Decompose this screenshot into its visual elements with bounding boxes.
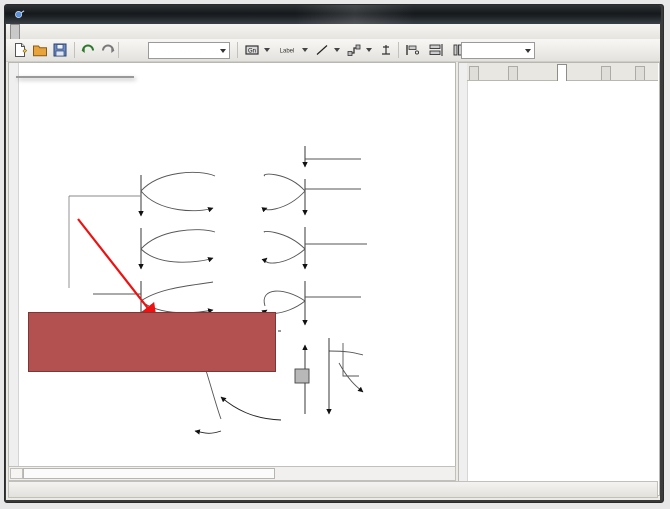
- redo-arrow-icon[interactable]: [100, 42, 116, 58]
- open-folder-icon[interactable]: [32, 42, 48, 58]
- title-bar: [5, 5, 661, 24]
- pathway-drawing[interactable]: [9, 63, 453, 479]
- pathway-connections: [9, 63, 453, 479]
- menu-item-edit[interactable]: [38, 25, 46, 38]
- chevron-down-icon: [525, 49, 531, 53]
- tab-objects[interactable]: [469, 66, 479, 80]
- toolbar-separator: [118, 42, 119, 58]
- menu-item-data[interactable]: [64, 25, 72, 38]
- menu-item-help[interactable]: [159, 25, 167, 38]
- app-window: Gn Label: [0, 0, 670, 509]
- sidebar-tabs: [467, 63, 658, 81]
- save-disk-icon[interactable]: [52, 42, 68, 58]
- file-menu-dropdown[interactable]: [16, 76, 134, 78]
- svg-text:Label: Label: [280, 49, 295, 55]
- hscroll-thumb[interactable]: [23, 468, 275, 479]
- anchor-icon[interactable]: [378, 42, 394, 58]
- undo-arrow-icon[interactable]: [80, 42, 96, 58]
- new-file-icon[interactable]: [12, 42, 28, 58]
- line-icon[interactable]: [314, 42, 330, 58]
- canvas-hscrollbar[interactable]: [8, 466, 456, 481]
- hscroll-left-button[interactable]: [10, 468, 23, 479]
- toolbar: Gn Label: [6, 39, 660, 62]
- client-area: Gn Label: [6, 24, 660, 500]
- chevron-down-icon[interactable]: [366, 48, 372, 52]
- align-stack-icon[interactable]: [428, 42, 444, 58]
- menu-item-file[interactable]: [10, 24, 20, 40]
- chevron-down-icon[interactable]: [302, 48, 308, 52]
- connector-icon[interactable]: [346, 42, 362, 58]
- chevron-down-icon: [220, 49, 226, 53]
- label-icon[interactable]: Label: [276, 42, 298, 58]
- status-bar: [8, 481, 658, 498]
- title-bar-glow: [295, 5, 415, 24]
- align-left-icon[interactable]: [404, 42, 420, 58]
- toolbar-separator: [74, 42, 75, 58]
- svg-text:Gn: Gn: [248, 48, 256, 54]
- pathway-canvas[interactable]: [8, 62, 456, 482]
- gene-box-icon[interactable]: Gn: [244, 42, 260, 58]
- visualization-select[interactable]: [461, 42, 535, 59]
- backpage-content: [468, 81, 658, 492]
- tab-search[interactable]: [601, 66, 611, 80]
- sidebar-panel: [458, 62, 660, 496]
- sidebar-rail: [459, 63, 468, 493]
- menu-item-view[interactable]: [92, 25, 100, 38]
- callout-annotation: [28, 312, 276, 372]
- tab-legend[interactable]: [635, 66, 645, 80]
- pathvisio-app-icon: [14, 9, 25, 20]
- zoom-select[interactable]: [148, 42, 230, 59]
- menu-item-plugins[interactable]: [120, 25, 128, 38]
- chevron-down-icon[interactable]: [334, 48, 340, 52]
- chevron-down-icon[interactable]: [264, 48, 270, 52]
- tab-properties[interactable]: [508, 66, 518, 80]
- toolbar-separator: [237, 42, 238, 58]
- tab-backpage[interactable]: [557, 64, 567, 81]
- menu-bar: [6, 24, 660, 40]
- toolbar-separator: [398, 42, 399, 58]
